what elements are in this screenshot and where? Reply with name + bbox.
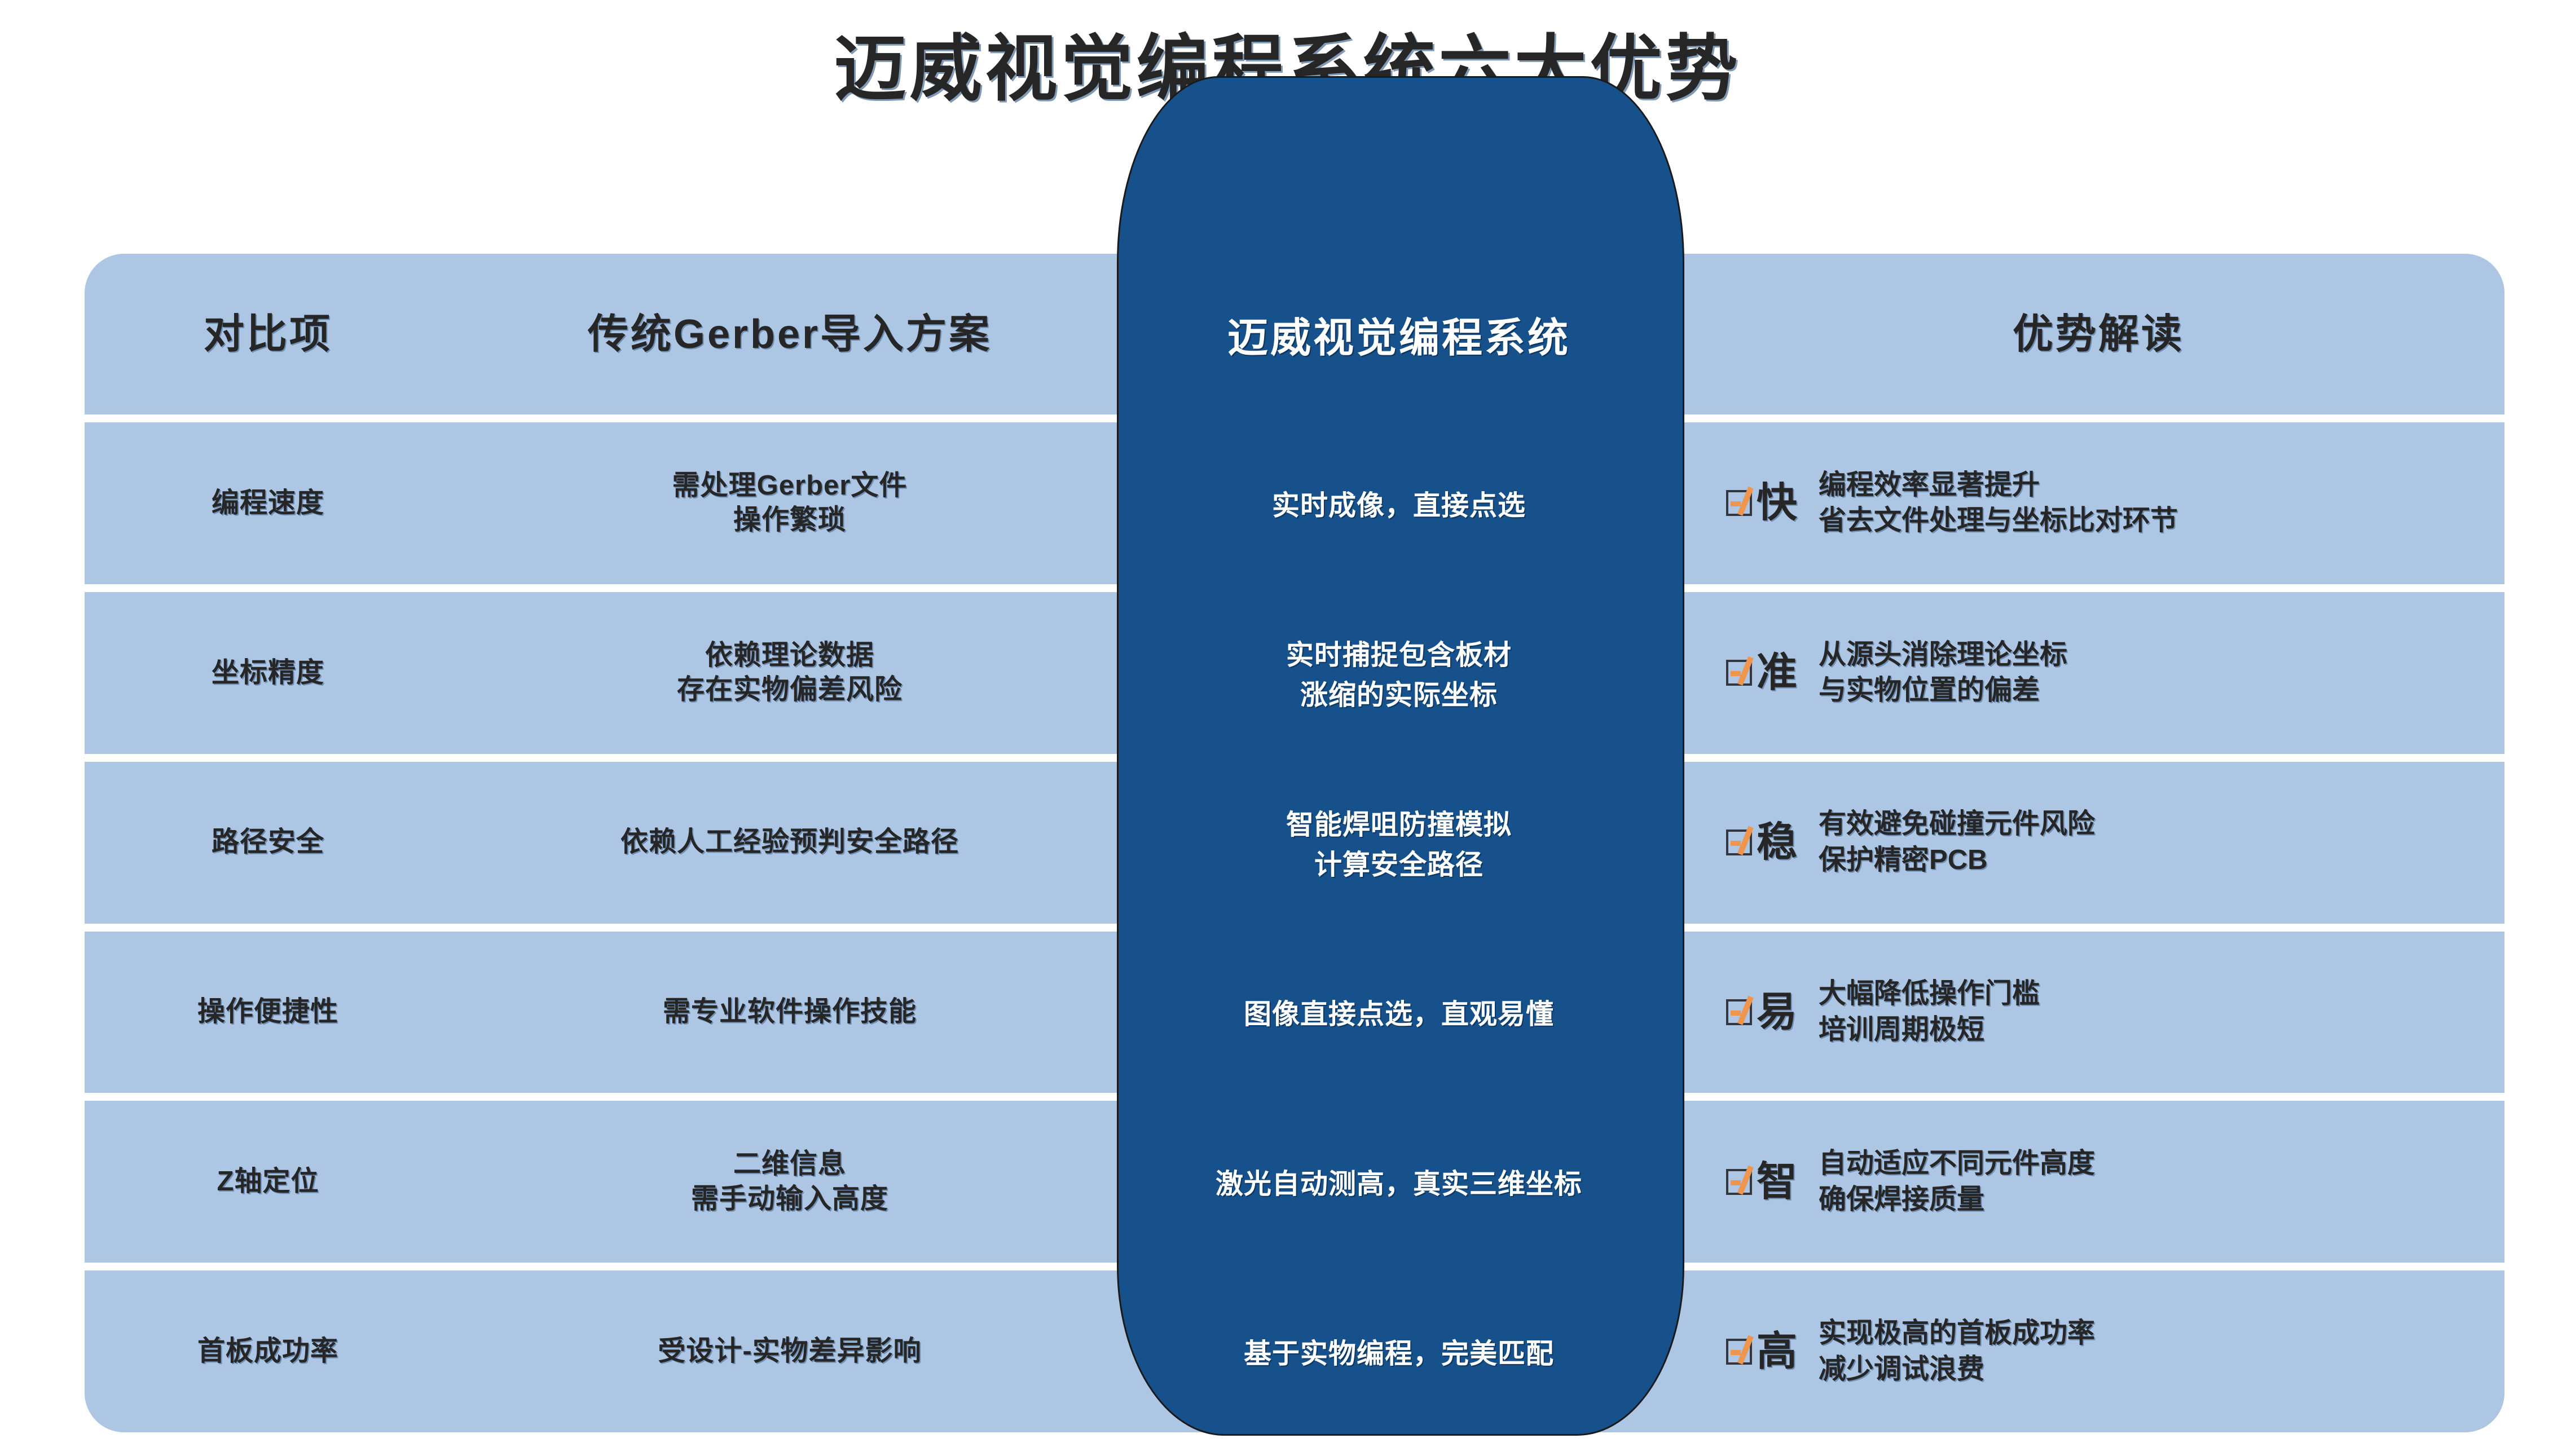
text-line: 保护精密PCB — [1819, 842, 1987, 879]
cell-traditional: 需处理Gerber文件操作繁琐 — [451, 469, 1128, 538]
comparison-table: 对比项传统Gerber导入方案优势解读编程速度需处理Gerber文件操作繁琐快编… — [85, 254, 2504, 1432]
advantage-key-label: 智 — [1757, 1157, 1797, 1207]
maiwei-text: 激光自动测高，真实三维坐标 — [1216, 1162, 1582, 1202]
advantage-key-label: 稳 — [1757, 817, 1797, 868]
item-label: 首板成功率 — [197, 1334, 338, 1369]
text-line: 二维信息 — [691, 1147, 888, 1181]
text-line: 需手动输入高度 — [691, 1182, 888, 1216]
cell-item: 编程速度 — [85, 486, 451, 520]
text-line: 减少调试浪费 — [1819, 1352, 1984, 1388]
item-label: 路径安全 — [212, 825, 324, 859]
item-label: 编程速度 — [212, 486, 324, 520]
traditional-text: 需处理Gerber文件操作繁琐 — [672, 469, 908, 538]
advantage-description: 从源头消除理论坐标与实物位置的偏差 — [1819, 637, 2067, 709]
checkbox-checked-icon — [1726, 1169, 1752, 1195]
advantage-cell-inner: 稳有效避免碰撞元件风险保护精密PCB — [1692, 806, 2504, 878]
text-line: 实时捕捉包含板材 — [1286, 633, 1512, 673]
text-line: 需专业软件操作技能 — [663, 995, 917, 1029]
cell-advantage: 高实现极高的首板成功率减少调试浪费 — [1692, 1316, 2504, 1387]
maiwei-highlight-panel — [1117, 76, 1684, 1436]
cell-item: 坐标精度 — [85, 656, 451, 690]
text-line: 涨缩的实际坐标 — [1286, 673, 1512, 713]
text-line: 有效避免碰撞元件风险 — [1819, 806, 2095, 842]
text-line: 操作繁琐 — [672, 503, 908, 537]
cell-traditional: 依赖人工经验预判安全路径 — [451, 825, 1128, 859]
header-maiwei-label: 迈威视觉编程系统 — [1227, 305, 1570, 364]
checkbox-checked-icon — [1726, 830, 1752, 855]
maiwei-text: 图像直接点选，直观易懂 — [1244, 992, 1554, 1032]
text-line: 计算安全路径 — [1286, 842, 1512, 883]
cell-advantage: 准从源头消除理论坐标与实物位置的偏差 — [1692, 637, 2504, 709]
advantage-description: 编程效率显著提升省去文件处理与坐标比对环节 — [1819, 467, 2178, 539]
maiwei-text: 实时成像，直接点选 — [1272, 483, 1526, 523]
cell-item: 路径安全 — [85, 825, 451, 859]
advantage-key: 高 — [1726, 1326, 1797, 1377]
traditional-text: 依赖理论数据存在实物偏差风险 — [677, 638, 903, 708]
advantage-key: 快 — [1726, 478, 1797, 528]
advantage-key-label: 准 — [1757, 647, 1797, 698]
text-line: 培训周期极短 — [1819, 1012, 1984, 1048]
text-line: 需处理Gerber文件 — [672, 469, 908, 503]
traditional-text: 二维信息需手动输入高度 — [691, 1147, 888, 1216]
advantage-cell-inner: 高实现极高的首板成功率减少调试浪费 — [1692, 1316, 2504, 1387]
traditional-text: 依赖人工经验预判安全路径 — [620, 825, 959, 859]
advantage-cell-inner: 准从源头消除理论坐标与实物位置的偏差 — [1692, 637, 2504, 709]
text-line: 存在实物偏差风险 — [677, 673, 903, 707]
maiwei-text: 基于实物编程，完美匹配 — [1244, 1331, 1554, 1371]
text-line: 省去文件处理与坐标比对环节 — [1819, 503, 2178, 539]
text-line: 受设计-实物差异影响 — [658, 1334, 921, 1369]
text-line: 依赖人工经验预判安全路径 — [620, 825, 959, 859]
header-cell-traditional: 传统Gerber导入方案 — [451, 309, 1128, 360]
checkbox-checked-icon — [1726, 1339, 1752, 1365]
cell-traditional: 依赖理论数据存在实物偏差风险 — [451, 638, 1128, 708]
advantage-description: 有效避免碰撞元件风险保护精密PCB — [1819, 806, 2095, 878]
text-line: 依赖理论数据 — [677, 638, 903, 673]
text-line: 编程效率显著提升 — [1819, 467, 2040, 504]
cell-item: 首板成功率 — [85, 1334, 451, 1369]
advantage-key-label: 高 — [1757, 1326, 1797, 1377]
advantage-cell-inner: 易大幅降低操作门槛培训周期极短 — [1692, 976, 2504, 1048]
checkbox-checked-icon — [1726, 490, 1752, 516]
maiwei-text: 实时捕捉包含板材涨缩的实际坐标 — [1286, 633, 1512, 713]
advantage-key-label: 易 — [1757, 987, 1797, 1038]
text-line: 图像直接点选，直观易懂 — [1244, 992, 1554, 1032]
item-label: 操作便捷性 — [197, 995, 338, 1029]
text-line: 基于实物编程，完美匹配 — [1244, 1331, 1554, 1371]
cell-advantage: 快编程效率显著提升省去文件处理与坐标比对环节 — [1692, 467, 2504, 539]
cell-item: 操作便捷性 — [85, 995, 451, 1029]
header-cell-advantage: 优势解读 — [1692, 309, 2504, 360]
advantage-cell-inner: 智自动适应不同元件高度确保焊接质量 — [1692, 1146, 2504, 1217]
cell-item: Z轴定位 — [85, 1164, 451, 1199]
text-line: 自动适应不同元件高度 — [1819, 1146, 2095, 1182]
advantage-description: 大幅降低操作门槛培训周期极短 — [1819, 976, 2040, 1048]
text-line: 与实物位置的偏差 — [1819, 673, 2040, 709]
advantage-key: 准 — [1726, 647, 1797, 698]
cell-traditional: 二维信息需手动输入高度 — [451, 1147, 1128, 1216]
text-line: 激光自动测高，真实三维坐标 — [1216, 1162, 1582, 1202]
text-line: 实时成像，直接点选 — [1272, 483, 1526, 523]
advantage-key: 稳 — [1726, 817, 1797, 868]
traditional-text: 需专业软件操作技能 — [663, 995, 917, 1029]
cell-advantage: 易大幅降低操作门槛培训周期极短 — [1692, 976, 2504, 1048]
text-line: 从源头消除理论坐标 — [1819, 637, 2067, 673]
cell-advantage: 稳有效避免碰撞元件风险保护精密PCB — [1692, 806, 2504, 878]
text-line: 确保焊接质量 — [1819, 1182, 1984, 1218]
cell-traditional: 需专业软件操作技能 — [451, 995, 1128, 1029]
advantage-key: 易 — [1726, 987, 1797, 1038]
traditional-text: 受设计-实物差异影响 — [658, 1334, 921, 1369]
text-line: 大幅降低操作门槛 — [1819, 976, 2040, 1012]
header-cell-item: 对比项 — [85, 309, 451, 360]
cell-traditional: 受设计-实物差异影响 — [451, 1334, 1128, 1369]
advantage-cell-inner: 快编程效率显著提升省去文件处理与坐标比对环节 — [1692, 467, 2504, 539]
checkbox-checked-icon — [1726, 660, 1752, 686]
advantage-key: 智 — [1726, 1157, 1797, 1207]
item-label: 坐标精度 — [212, 656, 324, 690]
checkbox-checked-icon — [1726, 999, 1752, 1025]
item-label: Z轴定位 — [217, 1164, 319, 1199]
text-line: 智能焊咀防撞模拟 — [1286, 802, 1512, 842]
maiwei-text: 智能焊咀防撞模拟计算安全路径 — [1286, 802, 1512, 883]
advantage-key-label: 快 — [1757, 478, 1797, 528]
advantage-description: 自动适应不同元件高度确保焊接质量 — [1819, 1146, 2095, 1217]
advantage-description: 实现极高的首板成功率减少调试浪费 — [1819, 1316, 2095, 1387]
cell-advantage: 智自动适应不同元件高度确保焊接质量 — [1692, 1146, 2504, 1217]
text-line: 实现极高的首板成功率 — [1819, 1316, 2095, 1352]
